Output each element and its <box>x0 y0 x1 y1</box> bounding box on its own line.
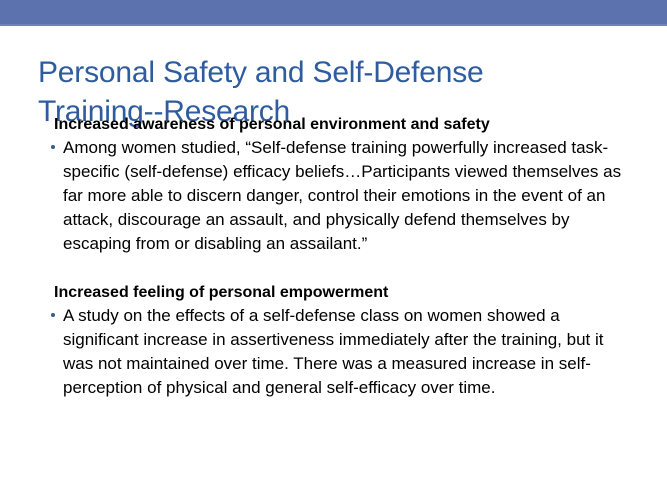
slide-body: Increased awareness of personal environm… <box>0 114 667 400</box>
section-heading: Increased feeling of personal empowermen… <box>0 282 667 304</box>
section-heading: Increased awareness of personal environm… <box>0 114 667 136</box>
bullet-dot-icon <box>51 313 55 317</box>
slide-top-band-rule <box>0 24 667 26</box>
list-item-text: Among women studied, “Self-defense train… <box>63 136 627 256</box>
presentation-slide: Personal Safety and Self-Defense Trainin… <box>0 0 667 500</box>
list-item-text: A study on the effects of a self-defense… <box>63 304 627 400</box>
content-section-awareness: Increased awareness of personal environm… <box>0 114 667 256</box>
bullet-dot-icon <box>51 145 55 149</box>
section-spacer <box>0 256 667 282</box>
list-item: Among women studied, “Self-defense train… <box>0 136 667 256</box>
content-section-empowerment: Increased feeling of personal empowermen… <box>0 282 667 400</box>
list-item: A study on the effects of a self-defense… <box>0 304 667 400</box>
slide-top-band <box>0 0 667 24</box>
